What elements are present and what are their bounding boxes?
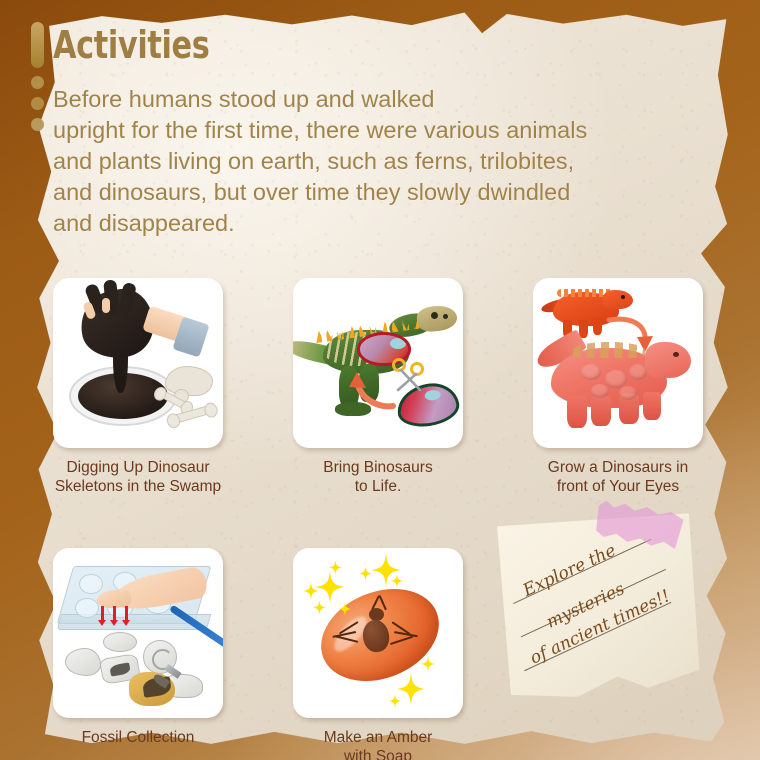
- activity-card-grow-a-dinosaurs[interactable]: Grow a Dinosaurs in front of Your Eyes: [533, 278, 703, 496]
- large-dinosaur-leg-icon: [567, 396, 587, 428]
- press-arrow-icon: [101, 606, 104, 621]
- dinosaur-eye-icon: [431, 312, 438, 319]
- sparkle-icon: [391, 574, 403, 588]
- activity-card-make-an-amber[interactable]: Make an Amber with Soap: [293, 548, 463, 760]
- activity-thumbnail-fossil-collection[interactable]: [53, 548, 223, 718]
- press-arrow-icon: [125, 606, 128, 621]
- decoration-dot-icon: [31, 76, 44, 89]
- activity-thumbnail-amber[interactable]: [293, 548, 463, 718]
- texture-bump-icon: [619, 386, 637, 400]
- page-title: Activities: [53, 23, 209, 67]
- texture-bump-icon: [629, 364, 647, 380]
- decoration-bar-icon: [31, 22, 44, 68]
- activity-card-digging-up-dinosaur-skeletons[interactable]: Digging Up Dinosaur Skeletons in the Swa…: [53, 278, 223, 496]
- large-dinosaur-leg-icon: [643, 392, 661, 420]
- bullet-decoration-rail: [31, 22, 47, 131]
- activity-card-fossil-collection[interactable]: Fossil Collection: [53, 548, 223, 760]
- dinosaur-nostril-icon: [443, 314, 448, 319]
- texture-bump-icon: [605, 370, 627, 388]
- activity-caption: Bring Binosaurs to Life.: [293, 458, 463, 496]
- small-dinosaur-leg-icon: [593, 318, 602, 335]
- poster-content: Activities Before humans stood up and wa…: [0, 0, 760, 760]
- small-dinosaur-eye-icon: [621, 295, 625, 299]
- activity-thumbnail-swamp-dig[interactable]: [53, 278, 223, 448]
- small-dinosaur-head-icon: [603, 290, 633, 309]
- fossil-shell-icon: [65, 648, 101, 676]
- press-arrow-icon: [113, 606, 116, 621]
- skull-fragment-icon: [165, 366, 213, 396]
- poster-page: Activities Before humans stood up and wa…: [0, 0, 760, 760]
- dinosaur-head-icon: [416, 304, 458, 333]
- sparkle-icon: [313, 600, 326, 615]
- sparkle-icon: [329, 560, 342, 575]
- sparkle-icon: [421, 656, 435, 672]
- sparkle-icon: [389, 694, 401, 708]
- sparkle-icon: [339, 602, 351, 616]
- activity-caption: Make an Amber with Soap: [293, 728, 463, 760]
- sparkle-icon: [397, 672, 425, 706]
- large-dinosaur-back-plates-icon: [573, 342, 645, 358]
- sparkle-icon: [359, 566, 372, 581]
- activity-caption: Fossil Collection: [53, 728, 223, 747]
- activity-thumbnail-dinosaur-anatomy[interactable]: [293, 278, 463, 448]
- sparkle-icon: [303, 582, 319, 600]
- texture-bump-icon: [581, 364, 601, 380]
- scissors-icon: [389, 356, 429, 401]
- activity-card-bring-binosaurs-to-life[interactable]: Bring Binosaurs to Life.: [293, 278, 463, 496]
- decoration-dot-icon: [31, 118, 44, 131]
- skin-patch-icon: [102, 298, 110, 313]
- intro-paragraph: Before humans stood up and walked uprigh…: [53, 84, 725, 239]
- large-dinosaur-head-icon: [645, 342, 691, 378]
- texture-bump-icon: [591, 384, 609, 398]
- activity-caption: Grow a Dinosaurs in front of Your Eyes: [533, 458, 703, 496]
- large-dinosaur-leg-icon: [591, 396, 611, 426]
- activity-thumbnail-growing-dinosaur[interactable]: [533, 278, 703, 448]
- activity-caption: Digging Up Dinosaur Skeletons in the Swa…: [53, 458, 223, 496]
- fossil-oval-icon: [103, 632, 137, 652]
- mold-cup-icon: [75, 598, 99, 618]
- mold-cup-icon: [79, 574, 103, 594]
- decoration-dot-icon: [31, 97, 44, 110]
- large-dinosaur-eye-icon: [673, 352, 679, 357]
- sparkle-icon: [315, 570, 345, 604]
